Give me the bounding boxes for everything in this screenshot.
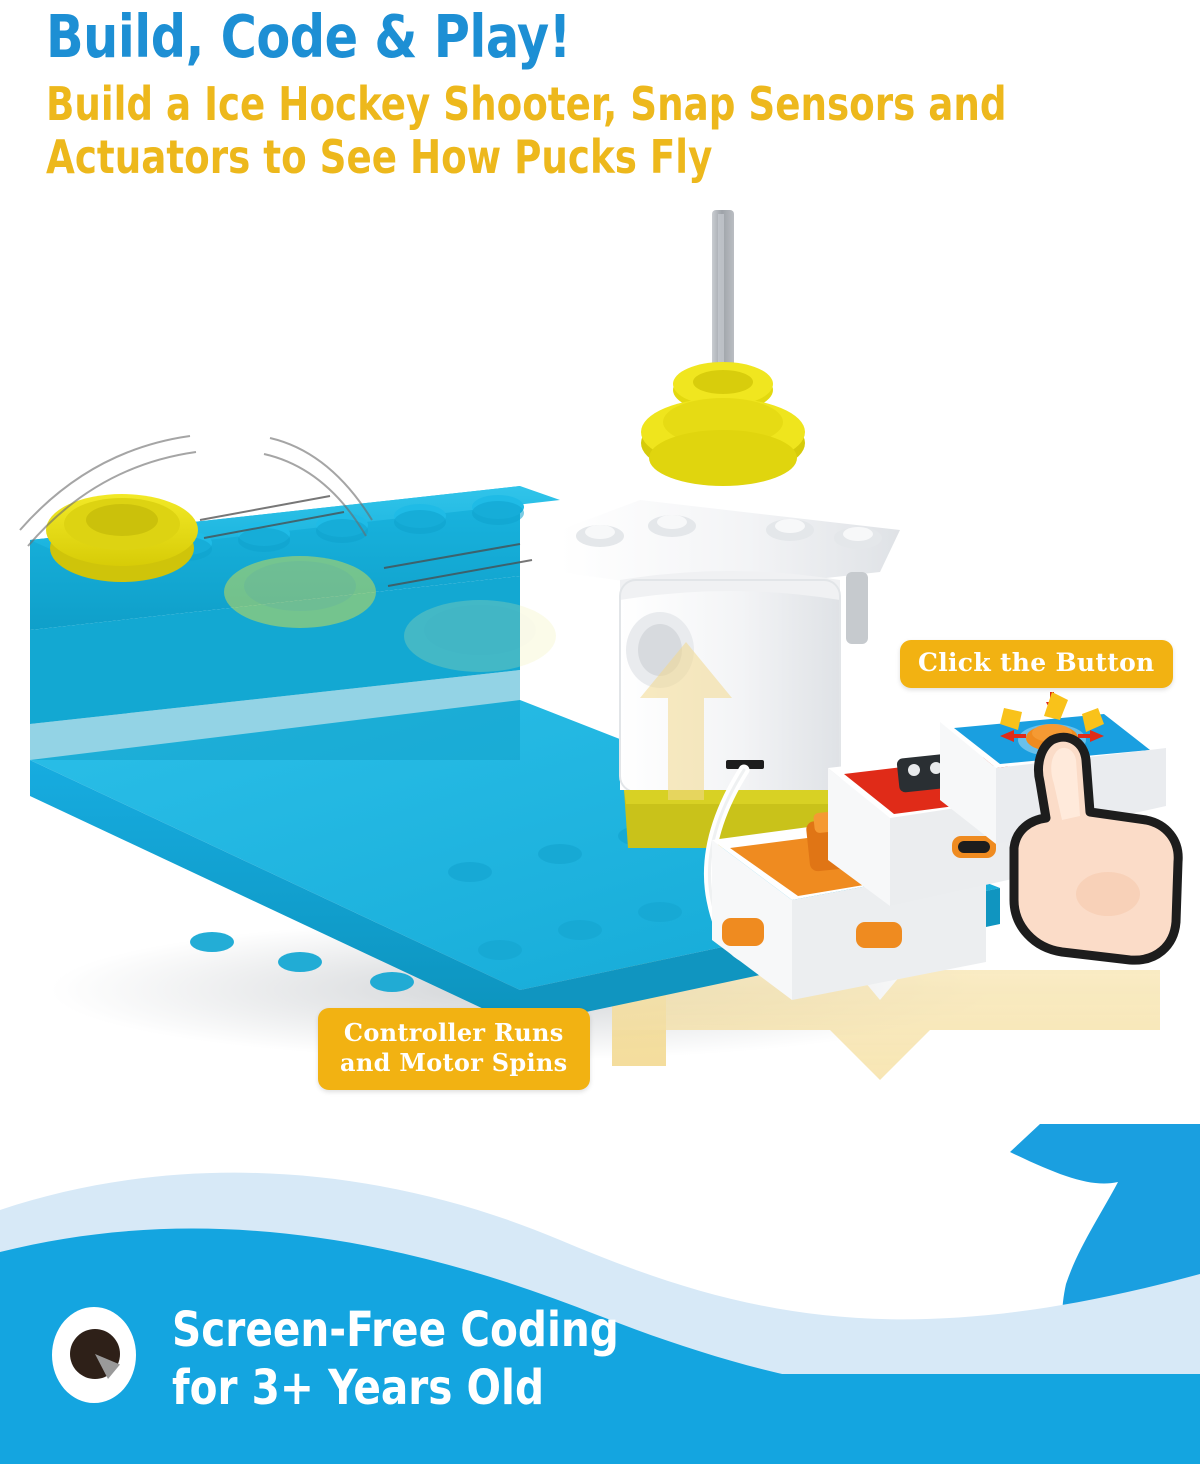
callout-click-the-button: Click the Button (900, 640, 1173, 688)
eye-pie-icon (52, 1307, 136, 1403)
callout-click-label: Click the Button (918, 648, 1155, 677)
product-marketing-image: Build, Code & Play! Build a Ice Hockey S… (0, 0, 1200, 1464)
banner-line-1: Screen-Free Coding (172, 1301, 619, 1359)
callout-controller-runs: Controller Runs and Motor Spins (318, 1008, 590, 1090)
puck-ghost-1 (224, 556, 376, 628)
callout-controller-line-2: and Motor Spins (340, 1048, 568, 1078)
subtitle-line-1: Build a Ice Hockey Shooter, Snap Sensors… (46, 78, 1054, 131)
subtitle-line-2: Actuators to See How Pucks Fly (46, 131, 1054, 184)
rotation-arrow (95, 200, 100, 260)
callout-controller-line-1: Controller Runs (340, 1018, 568, 1048)
page-title: Build, Code & Play! (46, 4, 1088, 70)
banner-line-2: for 3+ Years Old (172, 1359, 619, 1417)
bottom-banner: Screen-Free Coding for 3+ Years Old (0, 1289, 1200, 1464)
page-subtitle: Build a Ice Hockey Shooter, Snap Sensors… (46, 78, 1054, 184)
banner-text: Screen-Free Coding for 3+ Years Old (172, 1301, 619, 1417)
header: Build, Code & Play! Build a Ice Hockey S… (46, 4, 1166, 184)
puck-ghost-2 (404, 600, 556, 672)
